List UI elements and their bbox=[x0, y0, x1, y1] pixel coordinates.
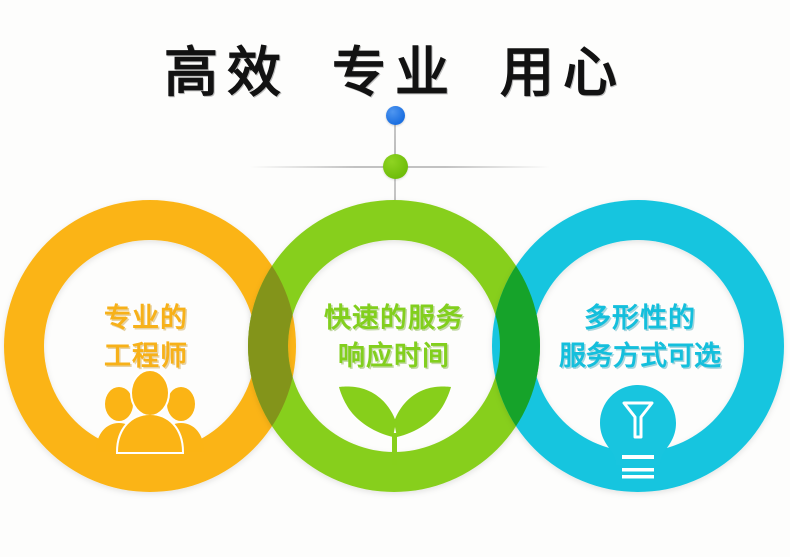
label-engineers-line1: 专业的 bbox=[16, 300, 276, 338]
label-service-modes-line1: 多形性的 bbox=[510, 300, 770, 338]
label-engineers-line2: 工程师 bbox=[16, 338, 276, 376]
label-service-modes: 多形性的 服务方式可选 bbox=[510, 300, 770, 377]
label-engineers: 专业的 工程师 bbox=[16, 300, 276, 377]
label-response-time: 快速的服务 响应时间 bbox=[264, 300, 524, 377]
label-service-modes-line2: 服务方式可选 bbox=[510, 338, 770, 376]
poster-canvas: 高效专业用心 bbox=[0, 0, 790, 557]
label-response-time-line2: 响应时间 bbox=[264, 338, 524, 376]
label-response-time-line1: 快速的服务 bbox=[264, 300, 524, 338]
venn-rings-group bbox=[0, 0, 790, 557]
